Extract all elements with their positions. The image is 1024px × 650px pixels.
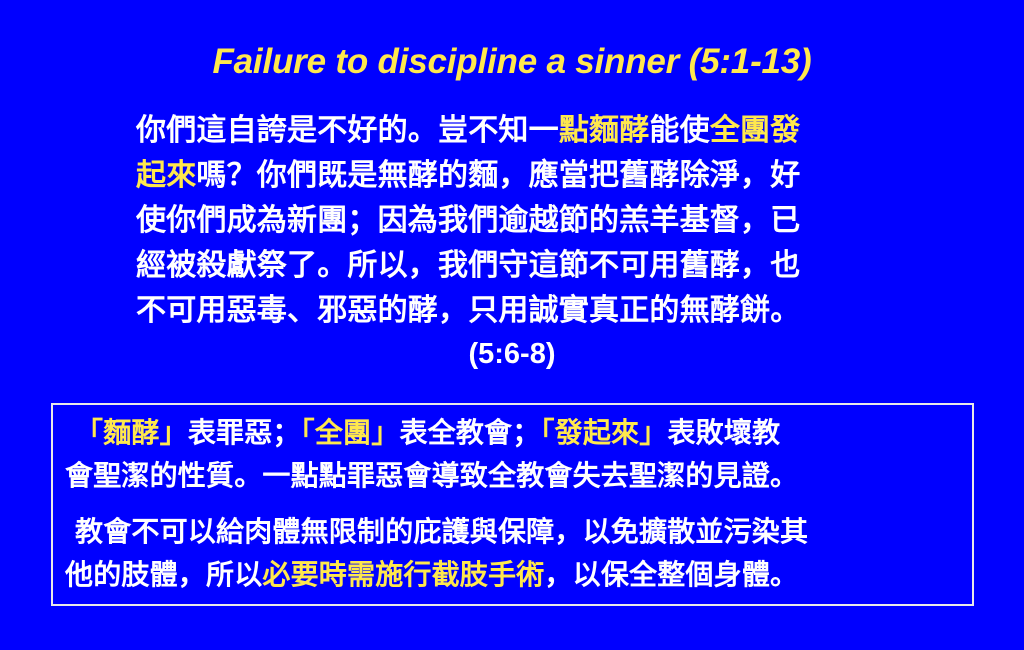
plain-text: ，以保全整個身體。 bbox=[544, 558, 798, 591]
scripture-line: 不可用惡毒、邪惡的酵，只用誠實真正的無酵餅。 bbox=[136, 288, 896, 333]
commentary-line: 他的肢體，所以必要時需施行截肢手術，以保全整個身體。 bbox=[65, 553, 965, 596]
plain-text: 他的肢體，所以 bbox=[65, 558, 262, 591]
commentary-line: 教會不可以給肉體無限制的庇護與保障，以免擴散並污染其 bbox=[65, 510, 965, 553]
highlighted-text: 「發起來」 bbox=[540, 416, 667, 449]
commentary-paragraph: 教會不可以給肉體無限制的庇護與保障，以免擴散並污染其 他的肢體，所以必要時需施行… bbox=[65, 510, 965, 596]
scripture-line: 使你們成為新團；因為我們逾越節的羔羊基督，已 bbox=[136, 198, 896, 243]
highlighted-text: 全團發 bbox=[710, 113, 801, 148]
plain-text: 會聖潔的性質。一點點罪惡會導致全教會失去聖潔的見證。 bbox=[65, 459, 798, 492]
plain-text: 你們這自誇是不好的。豈不知一 bbox=[136, 113, 559, 148]
scripture-line: 經被殺獻祭了。所以，我們守這節不可用舊酵，也 bbox=[136, 243, 896, 288]
plain-text: 不可用惡毒、邪惡的酵，只用誠實真正的無酵餅。 bbox=[136, 293, 800, 328]
plain-text: 經被殺獻祭了。所以，我們守這節不可用舊酵，也 bbox=[136, 248, 800, 283]
highlighted-text: 起來 bbox=[136, 158, 196, 193]
plain-text: 表罪惡； bbox=[188, 416, 301, 449]
plain-text: 教會不可以給肉體無限制的庇護與保障，以免擴散並污染其 bbox=[75, 515, 808, 548]
scripture-passage: 你們這自誇是不好的。豈不知一點麵酵能使全團發 起來嗎？你們既是無酵的麵，應當把舊… bbox=[136, 108, 896, 333]
highlighted-text: 點麵酵 bbox=[559, 113, 650, 148]
highlighted-text: 必要時需施行截肢手術 bbox=[262, 558, 544, 591]
commentary-paragraph: 「麵酵」表罪惡；「全團」表全教會；「發起來」表敗壞教 會聖潔的性質。一點點罪惡會… bbox=[65, 411, 965, 497]
commentary-box: 「麵酵」表罪惡；「全團」表全教會；「發起來」表敗壞教 會聖潔的性質。一點點罪惡會… bbox=[51, 403, 974, 606]
page-title: Failure to discipline a sinner (5:1-13) bbox=[0, 42, 1024, 82]
scripture-line: 你們這自誇是不好的。豈不知一點麵酵能使全團發 bbox=[136, 108, 896, 153]
verse-reference: (5:6-8) bbox=[0, 338, 1024, 371]
commentary-line: 「麵酵」表罪惡；「全團」表全教會；「發起來」表敗壞教 bbox=[65, 411, 965, 454]
plain-text: 嗎？你們既是無酵的麵，應當把舊酵除淨，好 bbox=[196, 158, 800, 193]
plain-text: 能使 bbox=[649, 113, 709, 148]
plain-text: 表全教會； bbox=[399, 416, 540, 449]
highlighted-text: 「全團」 bbox=[301, 416, 400, 449]
highlighted-text: 「麵酵」 bbox=[75, 416, 188, 449]
plain-text: 使你們成為新團；因為我們逾越節的羔羊基督，已 bbox=[136, 203, 800, 238]
scripture-line: 起來嗎？你們既是無酵的麵，應當把舊酵除淨，好 bbox=[136, 153, 896, 198]
commentary-line: 會聖潔的性質。一點點罪惡會導致全教會失去聖潔的見證。 bbox=[65, 454, 965, 497]
plain-text: 表敗壞教 bbox=[667, 416, 780, 449]
presentation-slide: Failure to discipline a sinner (5:1-13) … bbox=[0, 0, 1024, 650]
